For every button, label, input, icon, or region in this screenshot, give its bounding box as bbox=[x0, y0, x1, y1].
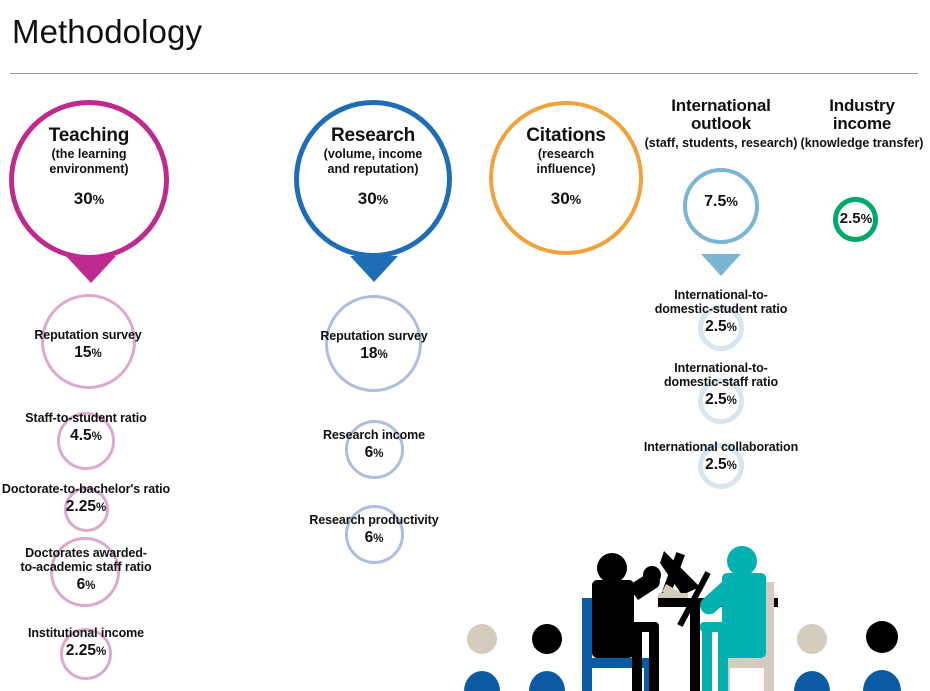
pillar-text-citations: Citations (research influence) 30% bbox=[489, 125, 643, 208]
pillar-percent-international: 7.5% bbox=[683, 193, 759, 211]
pillar-subtitle-citations-line1: (research bbox=[489, 147, 643, 161]
metric-percent-teaching-2: 2.25% bbox=[0, 498, 196, 516]
metric-percent-research-0: 18% bbox=[268, 345, 480, 363]
teacher-figure bbox=[700, 546, 774, 691]
pillar-subtitle-research-line2: and reputation) bbox=[294, 162, 452, 176]
metric-percent-research-1: 6% bbox=[268, 444, 480, 462]
metric-text-international-2: International collaboration 2.5% bbox=[631, 440, 811, 474]
metric-text-research-2: Research productivity 6% bbox=[268, 513, 480, 547]
metric-label-research-1: Research income bbox=[268, 428, 480, 442]
pillar-percent-teaching: 30% bbox=[9, 189, 169, 208]
metric-text-research-0: Reputation survey 18% bbox=[268, 329, 480, 363]
pillar-subtitle-international: (staff, students, research) bbox=[636, 137, 806, 151]
pillar-text-research: Research (volume, income and reputation)… bbox=[294, 125, 452, 208]
pillar-percent-industry-wrap: 2.5% bbox=[820, 211, 892, 228]
metric-percent-international-0: 2.5% bbox=[631, 318, 811, 336]
metric-percent-international-2: 2.5% bbox=[631, 456, 811, 474]
pillar-header-international: International outlook (staff, students, … bbox=[636, 97, 806, 150]
title-divider bbox=[10, 73, 918, 74]
seated-student-figure bbox=[582, 553, 661, 691]
metric-label-teaching-4: Institutional income bbox=[0, 626, 196, 640]
computer-monitor bbox=[658, 551, 700, 600]
metric-label-international-0-line2: domestic-student ratio bbox=[631, 302, 811, 316]
pillar-name-teaching: Teaching bbox=[9, 125, 169, 146]
pillar-percent-citations: 30% bbox=[489, 189, 643, 208]
pillar-percent-international-wrap: 7.5% bbox=[683, 193, 759, 211]
pillar-name-industry-line1: Industry bbox=[797, 97, 927, 115]
arrow-down-teaching bbox=[66, 256, 116, 283]
metric-percent-teaching-0: 15% bbox=[0, 344, 196, 362]
metric-percent-teaching-3: 6% bbox=[0, 576, 196, 594]
pillar-name-citations: Citations bbox=[489, 125, 643, 146]
pillar-header-industry: Industry income (knowledge transfer) bbox=[797, 97, 927, 150]
pillar-subtitle-citations-line2: influence) bbox=[489, 162, 643, 176]
metric-label-teaching-1: Staff-to-student ratio bbox=[0, 411, 196, 425]
audience-figure-2 bbox=[529, 624, 565, 691]
audience-figure-1 bbox=[464, 624, 500, 691]
metric-label-international-2-line1: International collaboration bbox=[631, 440, 811, 454]
metric-percent-research-2: 6% bbox=[268, 529, 480, 547]
metric-text-international-1: International-to- domestic-staff ratio 2… bbox=[631, 361, 811, 409]
pillar-name-international-line2: outlook bbox=[636, 115, 806, 133]
classroom-illustration bbox=[452, 540, 930, 691]
metric-text-teaching-1: Staff-to-student ratio 4.5% bbox=[0, 411, 196, 445]
metric-label-teaching-2: Doctorate-to-bachelor's ratio bbox=[0, 482, 196, 496]
pillar-percent-research: 30% bbox=[294, 189, 452, 208]
pillar-name-industry-line2: income bbox=[797, 115, 927, 133]
infographic-canvas: Methodology Teaching (the learning envir… bbox=[0, 0, 930, 691]
metric-label-international-1-line2: domestic-staff ratio bbox=[631, 375, 811, 389]
metric-text-teaching-3: Doctorates awarded- to-academic staff ra… bbox=[0, 546, 196, 594]
metric-label-teaching-0: Reputation survey bbox=[0, 328, 196, 342]
metric-label-international-0-line1: International-to- bbox=[631, 288, 811, 302]
metric-label-research-0: Reputation survey bbox=[268, 329, 480, 343]
metric-label-research-2: Research productivity bbox=[268, 513, 480, 527]
arrow-down-research bbox=[350, 256, 398, 282]
pillar-subtitle-research-line1: (volume, income bbox=[294, 147, 452, 161]
metric-label-international-1-line1: International-to- bbox=[631, 361, 811, 375]
metric-label-teaching-3-line1: Doctorates awarded- bbox=[0, 546, 196, 560]
pillar-subtitle-teaching-line2: environment) bbox=[9, 162, 169, 176]
metric-text-international-0: International-to- domestic-student ratio… bbox=[631, 288, 811, 336]
pillar-name-international-line1: International bbox=[636, 97, 806, 115]
metric-text-teaching-4: Institutional income 2.25% bbox=[0, 626, 196, 660]
pillar-percent-industry: 2.5% bbox=[820, 211, 892, 228]
audience-figure-4 bbox=[863, 621, 901, 691]
pillar-subtitle-industry: (knowledge transfer) bbox=[797, 137, 927, 151]
metric-label-teaching-3-line2: to-academic staff ratio bbox=[0, 560, 196, 574]
metric-text-teaching-2: Doctorate-to-bachelor's ratio 2.25% bbox=[0, 482, 196, 516]
pillar-text-teaching: Teaching (the learning environment) 30% bbox=[9, 125, 169, 208]
page-title: Methodology bbox=[12, 14, 202, 50]
metric-percent-teaching-1: 4.5% bbox=[0, 427, 196, 445]
pillar-name-research: Research bbox=[294, 125, 452, 146]
metric-text-teaching-0: Reputation survey 15% bbox=[0, 328, 196, 362]
pillar-subtitle-teaching-line1: (the learning bbox=[9, 147, 169, 161]
audience-figure-3 bbox=[794, 624, 830, 691]
arrow-down-international bbox=[701, 254, 741, 276]
metric-percent-teaching-4: 2.25% bbox=[0, 642, 196, 660]
metric-text-research-1: Research income 6% bbox=[268, 428, 480, 462]
metric-percent-international-1: 2.5% bbox=[631, 391, 811, 409]
